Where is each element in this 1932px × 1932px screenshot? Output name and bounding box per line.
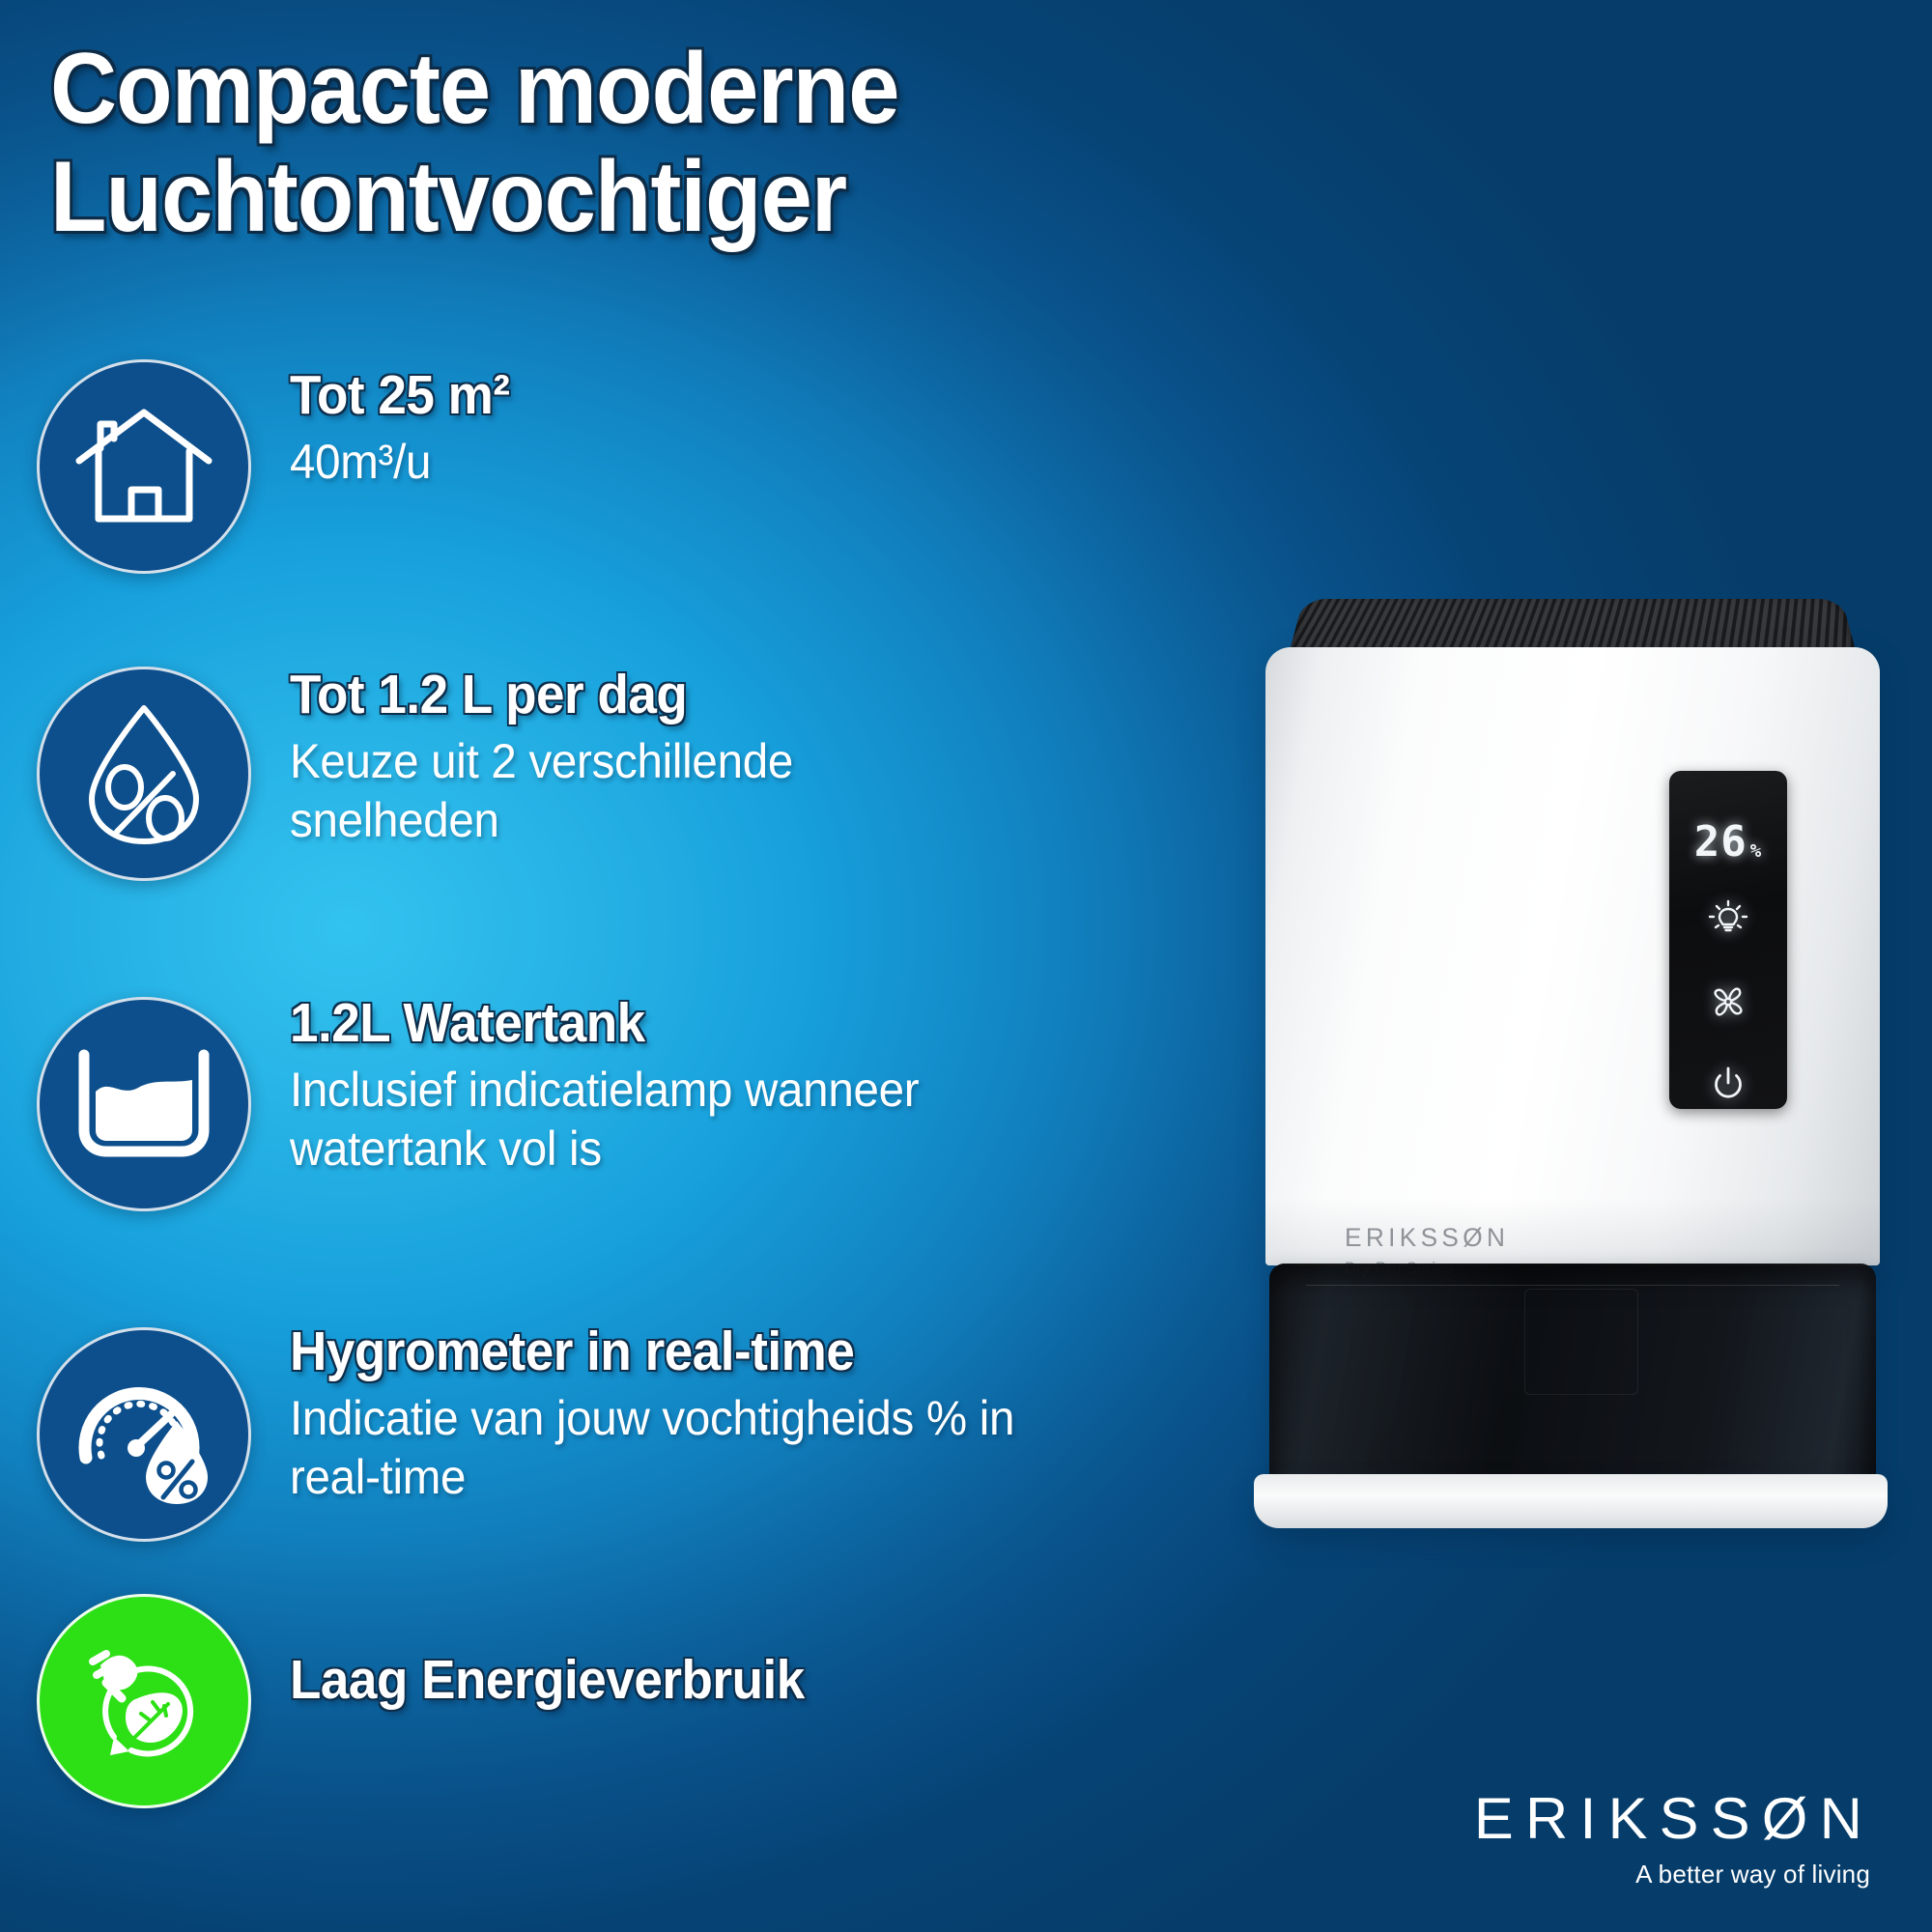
product-body: 26 % bbox=[1265, 647, 1880, 1265]
humidity-unit: % bbox=[1750, 842, 1762, 861]
title-line-2: Luchtontvochtiger bbox=[50, 143, 1170, 251]
title-line-1: Compacte moderne bbox=[50, 33, 898, 145]
feature-text-2: Tot 1.2 L per dag Keuze uit 2 verschille… bbox=[290, 667, 985, 850]
fan-icon[interactable] bbox=[1707, 980, 1749, 1028]
product-water-tank bbox=[1269, 1264, 1876, 1495]
feature-text-5: Laag Energieverbruik bbox=[290, 1652, 843, 1710]
product-image: 26 % bbox=[1248, 576, 1891, 1595]
feature-icon-circle-hygrometer bbox=[37, 1327, 251, 1542]
brand-logo-tagline: A better way of living bbox=[1482, 1860, 1870, 1889]
humidity-value: 26 bbox=[1694, 821, 1747, 864]
water-tank-icon bbox=[67, 1045, 221, 1163]
feature-sub-4: Indicatie van jouw vochtigheids % in rea… bbox=[290, 1389, 1024, 1507]
feature-icon-circle-humidity bbox=[37, 667, 251, 881]
feature-sub-1: 40m³/u bbox=[290, 433, 514, 492]
product-brand-name: ERIKSSØN bbox=[1345, 1225, 1509, 1251]
brand-logo-name: ERIKSSØN bbox=[1474, 1790, 1874, 1848]
feature-text-1: Tot 25 m² 40m³/u bbox=[290, 367, 526, 492]
eco-plug-leaf-icon bbox=[71, 1629, 216, 1774]
house-icon bbox=[71, 401, 216, 532]
feature-text-4: Hygrometer in real-time Indicatie van jo… bbox=[290, 1323, 1063, 1507]
page-title: Compacte moderne Luchtontvochtiger bbox=[50, 35, 1170, 252]
control-panel[interactable]: 26 % bbox=[1669, 771, 1787, 1109]
power-icon[interactable] bbox=[1707, 1063, 1749, 1110]
feature-heading-5: Laag Energieverbruik bbox=[290, 1652, 805, 1710]
light-bulb-icon[interactable] bbox=[1707, 898, 1749, 946]
feature-icon-circle-eco bbox=[37, 1594, 251, 1808]
feature-icon-circle-tank bbox=[37, 997, 251, 1211]
feature-heading-4: Hygrometer in real-time bbox=[290, 1323, 1009, 1381]
infographic-canvas: Compacte moderne Luchtontvochtiger Tot 2… bbox=[0, 0, 1932, 1932]
humidity-readout: 26 % bbox=[1694, 821, 1762, 864]
feature-sub-3: Inclusief indicatielamp wanneer watertan… bbox=[290, 1061, 987, 1179]
feature-heading-2: Tot 1.2 L per dag bbox=[290, 667, 937, 724]
product-base bbox=[1254, 1474, 1888, 1528]
hygrometer-gauge-icon bbox=[69, 1361, 219, 1508]
feature-sub-2: Keuze uit 2 verschillende snelheden bbox=[290, 732, 951, 850]
water-drop-percent-icon bbox=[74, 698, 213, 849]
feature-icon-circle-area bbox=[37, 359, 251, 574]
feature-heading-3: 1.2L Watertank bbox=[290, 995, 973, 1053]
brand-logo: ERIKSSØN A better way of living bbox=[1482, 1790, 1874, 1889]
feature-text-3: 1.2L Watertank Inclusief indicatielamp w… bbox=[290, 995, 1024, 1179]
feature-heading-1: Tot 25 m² bbox=[290, 367, 510, 425]
